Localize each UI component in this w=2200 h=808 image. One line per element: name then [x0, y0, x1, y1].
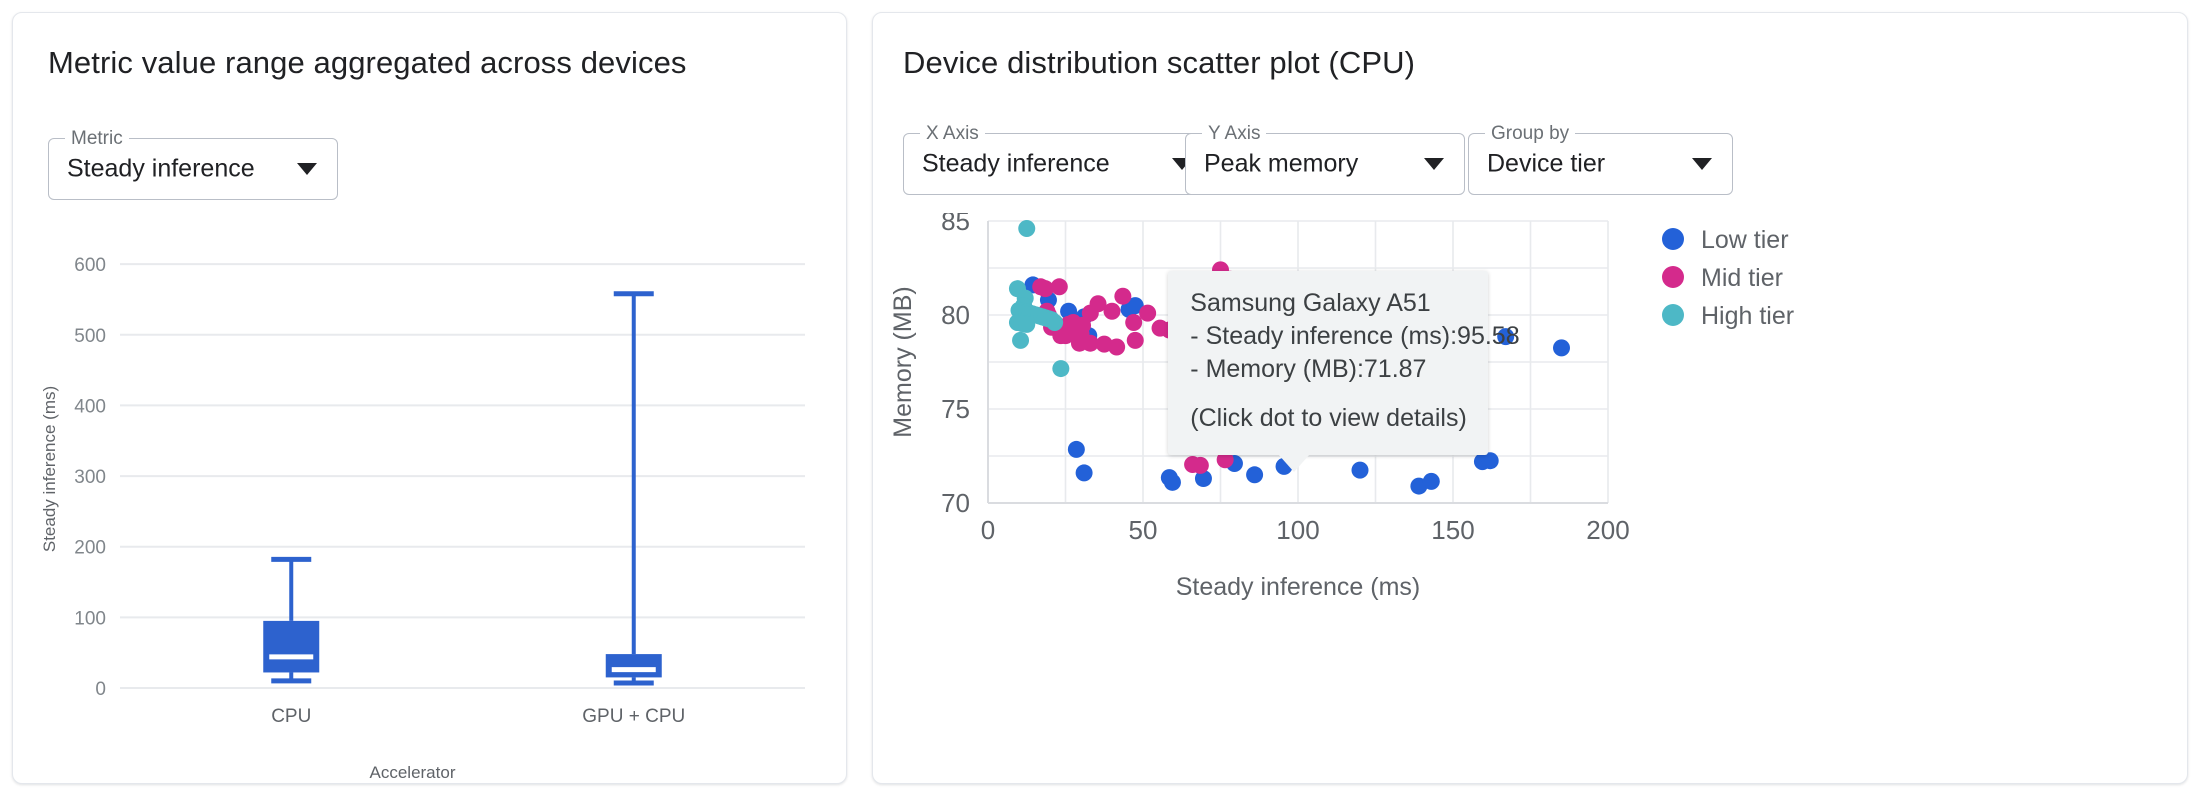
y-tick-label: 80	[941, 300, 970, 330]
y-axis-select[interactable]: Y Axis Peak memory	[1185, 133, 1465, 195]
scatter-point[interactable]	[1108, 338, 1125, 355]
scatter-point[interactable]	[1114, 288, 1131, 305]
tooltip-hint: (Click dot to view details)	[1190, 402, 1466, 435]
page-title: Metric value range aggregated across dev…	[48, 45, 687, 81]
legend-item[interactable]: Mid tier	[1662, 264, 1783, 292]
tooltip-metric-y: - Memory (MB):71.87	[1190, 353, 1466, 386]
x-axis-select-value: Steady inference	[922, 150, 1110, 179]
chevron-down-icon	[1424, 158, 1444, 170]
scatter-point[interactable]	[1139, 305, 1156, 322]
scatter-chart: 70758085050100150200Memory (MB)Steady in…	[883, 213, 2183, 773]
y-tick-label: 70	[941, 488, 970, 518]
scatter-point[interactable]	[1125, 314, 1142, 331]
dashboard-root: Metric value range aggregated across dev…	[0, 0, 2200, 808]
scatter-point[interactable]	[1076, 464, 1093, 481]
chevron-down-icon	[297, 163, 317, 175]
y-tick-label: 0	[95, 679, 106, 700]
y-tick-label: 600	[74, 255, 106, 276]
x-tick-label: 50	[1129, 515, 1158, 545]
y-axis-select-label: Y Axis	[1202, 123, 1266, 145]
metric-select[interactable]: Metric Steady inference	[48, 138, 338, 200]
legend-label: Mid tier	[1701, 264, 1783, 292]
y-tick-label: 100	[74, 608, 106, 629]
group-by-select-value: Device tier	[1487, 150, 1605, 179]
page-title: Device distribution scatter plot (CPU)	[903, 45, 1415, 81]
legend-label: High tier	[1701, 302, 1794, 330]
x-tick-label: 150	[1431, 515, 1474, 545]
y-tick-label: 300	[74, 467, 106, 488]
scatter-point[interactable]	[1423, 473, 1440, 490]
x-axis-title: Accelerator	[370, 763, 456, 782]
x-tick-label: 200	[1586, 515, 1629, 545]
tooltip-tail	[1278, 454, 1310, 472]
scatter-point[interactable]	[1051, 278, 1068, 295]
x-tick-label: 100	[1276, 515, 1319, 545]
box-plot-card: Metric value range aggregated across dev…	[12, 12, 847, 784]
y-axis-title: Steady inference (ms)	[40, 386, 59, 552]
y-axis-select-value: Peak memory	[1204, 150, 1358, 179]
scatter-point[interactable]	[1018, 316, 1035, 333]
y-tick-label: 400	[74, 396, 106, 417]
x-tick-label: 0	[981, 515, 995, 545]
x-axis-select[interactable]: X Axis Steady inference	[903, 133, 1213, 195]
box-plot-box[interactable]	[263, 559, 319, 681]
y-tick-label: 200	[74, 538, 106, 559]
scatter-point[interactable]	[1046, 314, 1063, 331]
box-plot-box[interactable]	[606, 294, 662, 683]
scatter-point[interactable]	[1018, 220, 1035, 237]
scatter-point[interactable]	[1164, 474, 1181, 491]
y-axis-title: Memory (MB)	[889, 286, 917, 437]
chevron-down-icon	[1692, 158, 1712, 170]
legend-label: Low tier	[1701, 226, 1789, 254]
box-plot-chart: 0100200300400500600Steady inference (ms)…	[25, 228, 825, 788]
scatter-point[interactable]	[1052, 360, 1069, 377]
legend-swatch-1	[1662, 266, 1684, 288]
tooltip-spacer	[1190, 386, 1466, 402]
legend-swatch-2	[1662, 304, 1684, 326]
x-axis-title: Steady inference (ms)	[1176, 573, 1421, 601]
metric-select-label: Metric	[65, 128, 129, 150]
scatter-point[interactable]	[1352, 462, 1369, 479]
scatter-point[interactable]	[1012, 332, 1029, 349]
scatter-point[interactable]	[1104, 303, 1121, 320]
tooltip-device-name: Samsung Galaxy A51	[1190, 287, 1466, 320]
group-by-select-label: Group by	[1485, 123, 1575, 145]
scatter-point[interactable]	[1068, 441, 1085, 458]
y-tick-label: 85	[941, 213, 970, 236]
y-tick-label: 500	[74, 326, 106, 347]
scatter-point[interactable]	[1553, 339, 1570, 356]
group-by-select[interactable]: Group by Device tier	[1468, 133, 1733, 195]
legend-item[interactable]: Low tier	[1662, 226, 1789, 254]
x-axis-select-label: X Axis	[920, 123, 985, 145]
metric-select-value: Steady inference	[67, 155, 255, 184]
x-category-label: GPU + CPU	[582, 706, 685, 727]
legend-item[interactable]: High tier	[1662, 302, 1794, 330]
legend-swatch-0	[1662, 228, 1684, 250]
scatter-point[interactable]	[1127, 332, 1144, 349]
scatter-point[interactable]	[1246, 466, 1263, 483]
scatter-tooltip: Samsung Galaxy A51 - Steady inference (m…	[1168, 271, 1488, 455]
y-tick-label: 75	[941, 394, 970, 424]
x-category-label: CPU	[271, 706, 311, 727]
scatter-plot-card: Device distribution scatter plot (CPU) X…	[872, 12, 2188, 784]
scatter-point[interactable]	[1192, 457, 1209, 474]
tooltip-metric-x: - Steady inference (ms):95.58	[1190, 320, 1466, 353]
